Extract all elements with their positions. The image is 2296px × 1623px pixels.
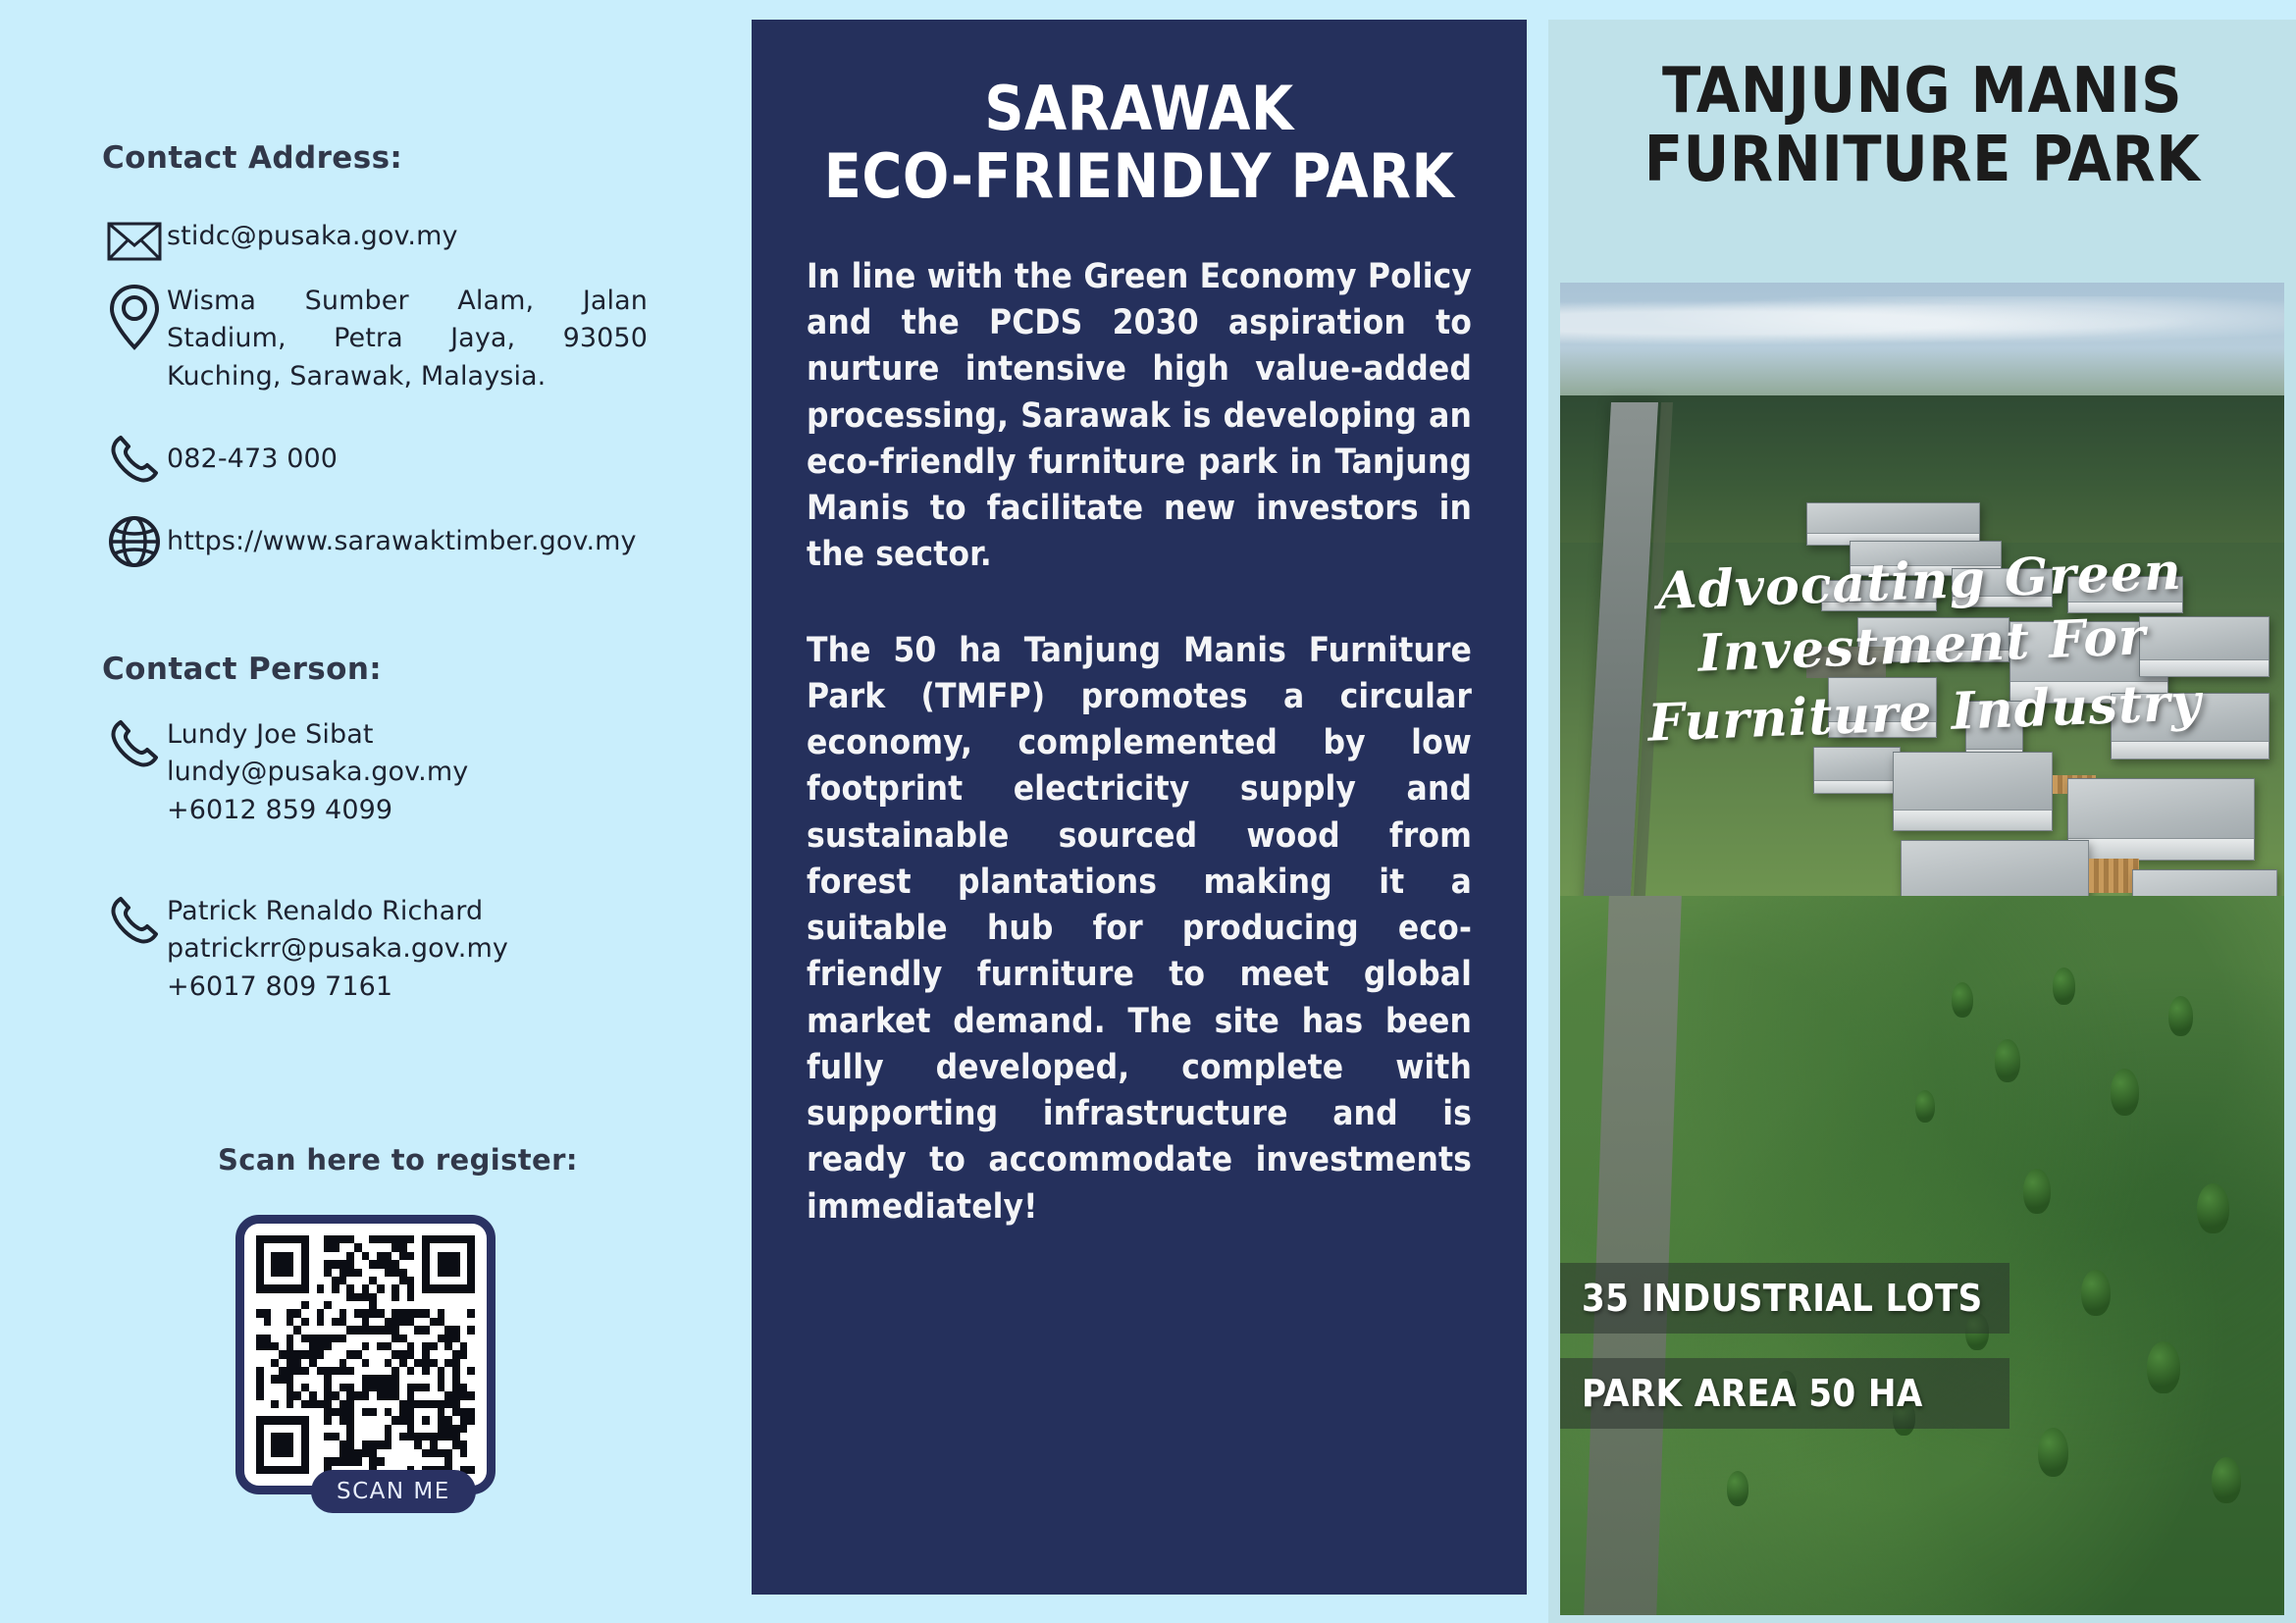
contact-person-heading: Contact Person: — [102, 652, 382, 687]
furniture-park-title: TANJUNG MANIS FURNITURE PARK — [1548, 20, 2296, 195]
photo-clouds — [1560, 296, 2284, 349]
qr-code-matrix — [256, 1235, 475, 1474]
map-pin-icon — [102, 283, 167, 351]
contact-address-value: Wisma Sumber Alam, Jalan Stadium, Petra … — [167, 283, 648, 395]
scan-me-badge: SCAN ME — [311, 1470, 476, 1513]
contact-email-row: stidc@pusaka.gov.my — [102, 218, 458, 261]
contact-person-row: Patrick Renaldo Richard patrickrr@pusaka… — [102, 893, 508, 1006]
phone-icon — [102, 893, 167, 948]
badge-park-area: PARK AREA 50 HA — [1560, 1358, 2009, 1429]
photo-plantation-area — [1560, 896, 2284, 1615]
phone-icon — [102, 432, 167, 487]
aerial-park-photo: Advocating Green Investment For Furnitur… — [1560, 283, 2284, 1615]
contact-phone-row: 082-473 000 — [102, 432, 338, 487]
contact-website-value[interactable]: https://www.sarawaktimber.gov.my — [167, 523, 637, 560]
eco-park-paragraph-1: In line with the Green Economy Policy an… — [807, 254, 1472, 579]
contact-email-value[interactable]: stidc@pusaka.gov.my — [167, 218, 458, 255]
eco-park-panel: SARAWAK ECO-FRIENDLY PARK In line with t… — [752, 20, 1527, 1595]
eco-park-paragraph-2: The 50 ha Tanjung Manis Furniture Park (… — [807, 628, 1472, 1230]
contact-person-mobile[interactable]: +6012 859 4099 — [167, 792, 468, 829]
furniture-park-panel: TANJUNG MANIS FURNITURE PARK — [1548, 20, 2296, 1623]
eco-park-title-line-2: ECO-FRIENDLY PARK — [807, 142, 1472, 210]
contact-person-name: Patrick Renaldo Richard — [167, 893, 508, 930]
contact-address-row: Wisma Sumber Alam, Jalan Stadium, Petra … — [102, 283, 648, 395]
eco-park-title-line-1: SARAWAK — [807, 75, 1472, 142]
contact-person-email[interactable]: patrickrr@pusaka.gov.my — [167, 930, 508, 968]
furniture-park-title-line-1: TANJUNG MANIS — [1570, 57, 2274, 126]
contact-person-email[interactable]: lundy@pusaka.gov.my — [167, 754, 468, 791]
contact-person-name: Lundy Joe Sibat — [167, 716, 468, 754]
qr-code[interactable] — [235, 1215, 496, 1494]
photo-caption: Advocating Green Investment For Furnitur… — [1560, 536, 2284, 759]
contact-address-heading: Contact Address: — [102, 140, 402, 176]
contact-website-row: https://www.sarawaktimber.gov.my — [102, 515, 637, 568]
eco-park-title: SARAWAK ECO-FRIENDLY PARK — [807, 75, 1472, 211]
photo-caption-line-1: Advocating Green Investment For — [1560, 536, 2284, 691]
envelope-icon — [102, 218, 167, 261]
contact-person-row: Lundy Joe Sibat lundy@pusaka.gov.my +601… — [102, 716, 468, 829]
scan-register-heading: Scan here to register: — [218, 1143, 578, 1177]
globe-icon — [102, 515, 167, 568]
brochure-page: Contact Address: stidc@pusaka.gov.my Wis… — [0, 0, 2296, 1623]
contact-phone-value[interactable]: 082-473 000 — [167, 441, 338, 478]
phone-icon — [102, 716, 167, 771]
furniture-park-title-line-2: FURNITURE PARK — [1570, 126, 2274, 194]
badge-industrial-lots: 35 INDUSTRIAL LOTS — [1560, 1263, 2009, 1334]
contact-person-mobile[interactable]: +6017 809 7161 — [167, 969, 508, 1006]
contact-panel: Contact Address: stidc@pusaka.gov.my Wis… — [0, 0, 752, 1623]
